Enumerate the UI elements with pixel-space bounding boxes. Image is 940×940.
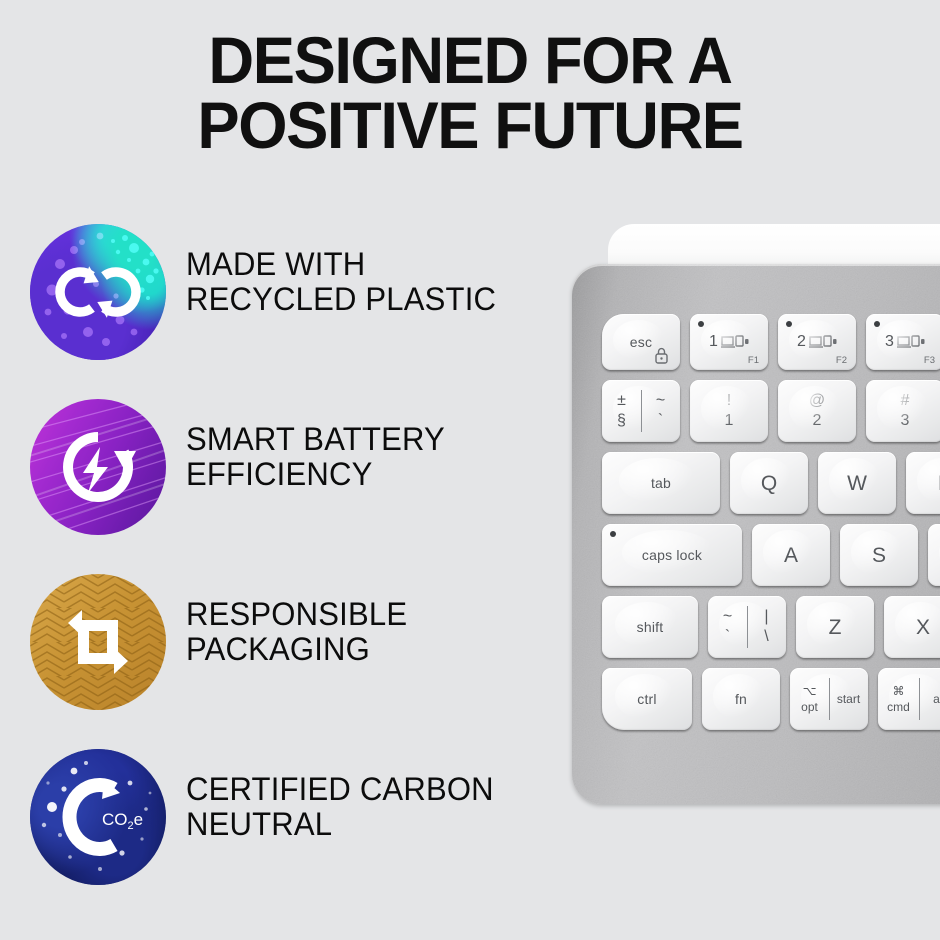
- cmd-alt-key[interactable]: ⌘ cmd alt: [878, 668, 940, 730]
- feature-item-smart-battery: SMART BATTERY EFFICIENCY: [0, 399, 560, 574]
- key-divider: [829, 678, 830, 720]
- caps-lock-key[interactable]: caps lock: [602, 524, 742, 586]
- key-divider: [747, 606, 748, 648]
- q-key[interactable]: Q: [730, 452, 808, 514]
- key-divider: [641, 390, 642, 432]
- feature-label-responsible-packaging: RESPONSIBLE PACKAGING: [186, 597, 545, 666]
- recycle-loop-icon: [30, 224, 166, 360]
- tab-key[interactable]: tab: [602, 452, 720, 514]
- key-grid: esc 1 F1: [572, 264, 940, 804]
- caps-lock-indicator-dot: [610, 531, 616, 537]
- package-loop-arrows-icon: [30, 574, 166, 710]
- device-switch-icon: [897, 334, 925, 350]
- device3-indicator-dot: [874, 321, 880, 327]
- s-key[interactable]: S: [840, 524, 918, 586]
- f2-device2-key[interactable]: 2 F2: [778, 314, 856, 370]
- e-key[interactable]: E: [906, 452, 940, 514]
- opt-start-key[interactable]: ⌥ opt start: [790, 668, 868, 730]
- lock-icon: [654, 347, 669, 364]
- f3-device3-key[interactable]: 3 F3: [866, 314, 940, 370]
- feature-item-recycled-plastic: MADE WITH RECYCLED PLASTIC: [0, 224, 560, 399]
- backslash-key[interactable]: ~ ` | \: [708, 596, 786, 658]
- x-key[interactable]: X: [884, 596, 940, 658]
- device2-indicator-dot: [786, 321, 792, 327]
- promo-canvas: DESIGNED FOR A POSITIVE FUTURE: [0, 0, 940, 940]
- 2-key[interactable]: @ 2: [778, 380, 856, 442]
- 1-key[interactable]: ! 1: [690, 380, 768, 442]
- w-key[interactable]: W: [818, 452, 896, 514]
- page-title: DESIGNED FOR A POSITIVE FUTURE: [19, 28, 921, 159]
- esc-key[interactable]: esc: [602, 314, 680, 370]
- f1-device1-key[interactable]: 1 F1: [690, 314, 768, 370]
- co2e-label: CO2e: [102, 810, 143, 832]
- carbon-c-icon: CO2e: [30, 749, 166, 885]
- feature-label-carbon-neutral: CERTIFIED CARBON NEUTRAL: [186, 772, 545, 841]
- key-divider: [919, 678, 920, 720]
- feature-label-smart-battery: SMART BATTERY EFFICIENCY: [186, 422, 545, 491]
- 3-key[interactable]: # 3: [866, 380, 940, 442]
- keyboard-body: esc 1 F1: [572, 264, 940, 804]
- badge-responsible-packaging: [30, 574, 166, 710]
- badge-carbon-neutral: CO2e: [30, 749, 166, 885]
- badge-recycled-plastic: [30, 224, 166, 360]
- a-key[interactable]: A: [752, 524, 830, 586]
- device-switch-icon: [809, 334, 837, 350]
- device-switch-icon: [721, 334, 749, 350]
- shift-key[interactable]: shift: [602, 596, 698, 658]
- d-key[interactable]: D: [928, 524, 940, 586]
- feature-label-recycled-plastic: MADE WITH RECYCLED PLASTIC: [186, 247, 545, 316]
- feature-item-carbon-neutral: CO2e CERTIFIED CARBON NEUTRAL: [0, 749, 560, 924]
- z-key[interactable]: Z: [796, 596, 874, 658]
- feature-item-responsible-packaging: RESPONSIBLE PACKAGING: [0, 574, 560, 749]
- section-tilde-key[interactable]: ± § ~ `: [602, 380, 680, 442]
- badge-smart-battery: [30, 399, 166, 535]
- fn-key[interactable]: fn: [702, 668, 780, 730]
- feature-list: MADE WITH RECYCLED PLASTIC: [0, 224, 560, 924]
- device1-indicator-dot: [698, 321, 704, 327]
- ctrl-key[interactable]: ctrl: [602, 668, 692, 730]
- battery-refresh-bolt-icon: [30, 399, 166, 535]
- wireless-keyboard: esc 1 F1: [546, 224, 940, 814]
